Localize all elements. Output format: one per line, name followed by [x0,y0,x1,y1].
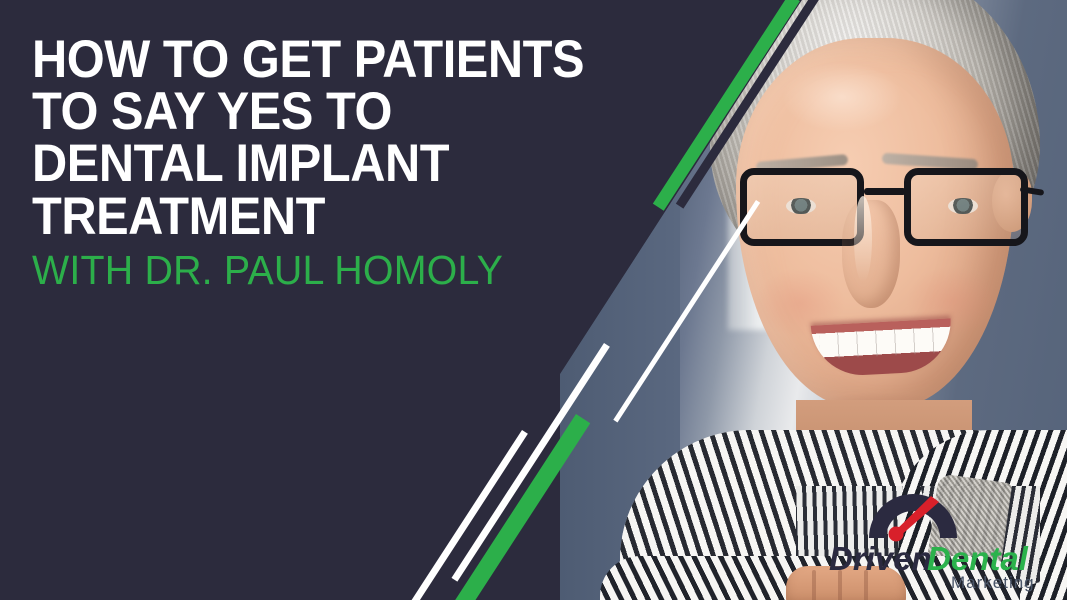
portrait-nose-highlight [854,196,872,282]
driven-dental-marketing-logo[interactable]: Driven Dental Marketing [827,488,1057,592]
speedometer-gauge-icon [869,494,957,542]
eyeglass-lens-right [904,168,1028,246]
portrait-forehead-highlight [782,62,902,132]
logo-word-driven: Driven [829,540,932,577]
page-title: HOW TO GET PATIENTS TO SAY YES TO DENTAL… [32,34,639,243]
eyeglass-bridge [864,188,906,195]
portrait-finger [812,570,816,600]
video-thumbnail-canvas: HOW TO GET PATIENTS TO SAY YES TO DENTAL… [0,0,1067,600]
title-block: HOW TO GET PATIENTS TO SAY YES TO DENTAL… [32,34,692,291]
logo-tagline-marketing: Marketing [951,573,1035,592]
portrait-teeth [819,327,944,359]
logo-word-dental: Dental [927,540,1029,577]
presenter-subtitle: WITH DR. PAUL HOMOLY [32,250,666,291]
